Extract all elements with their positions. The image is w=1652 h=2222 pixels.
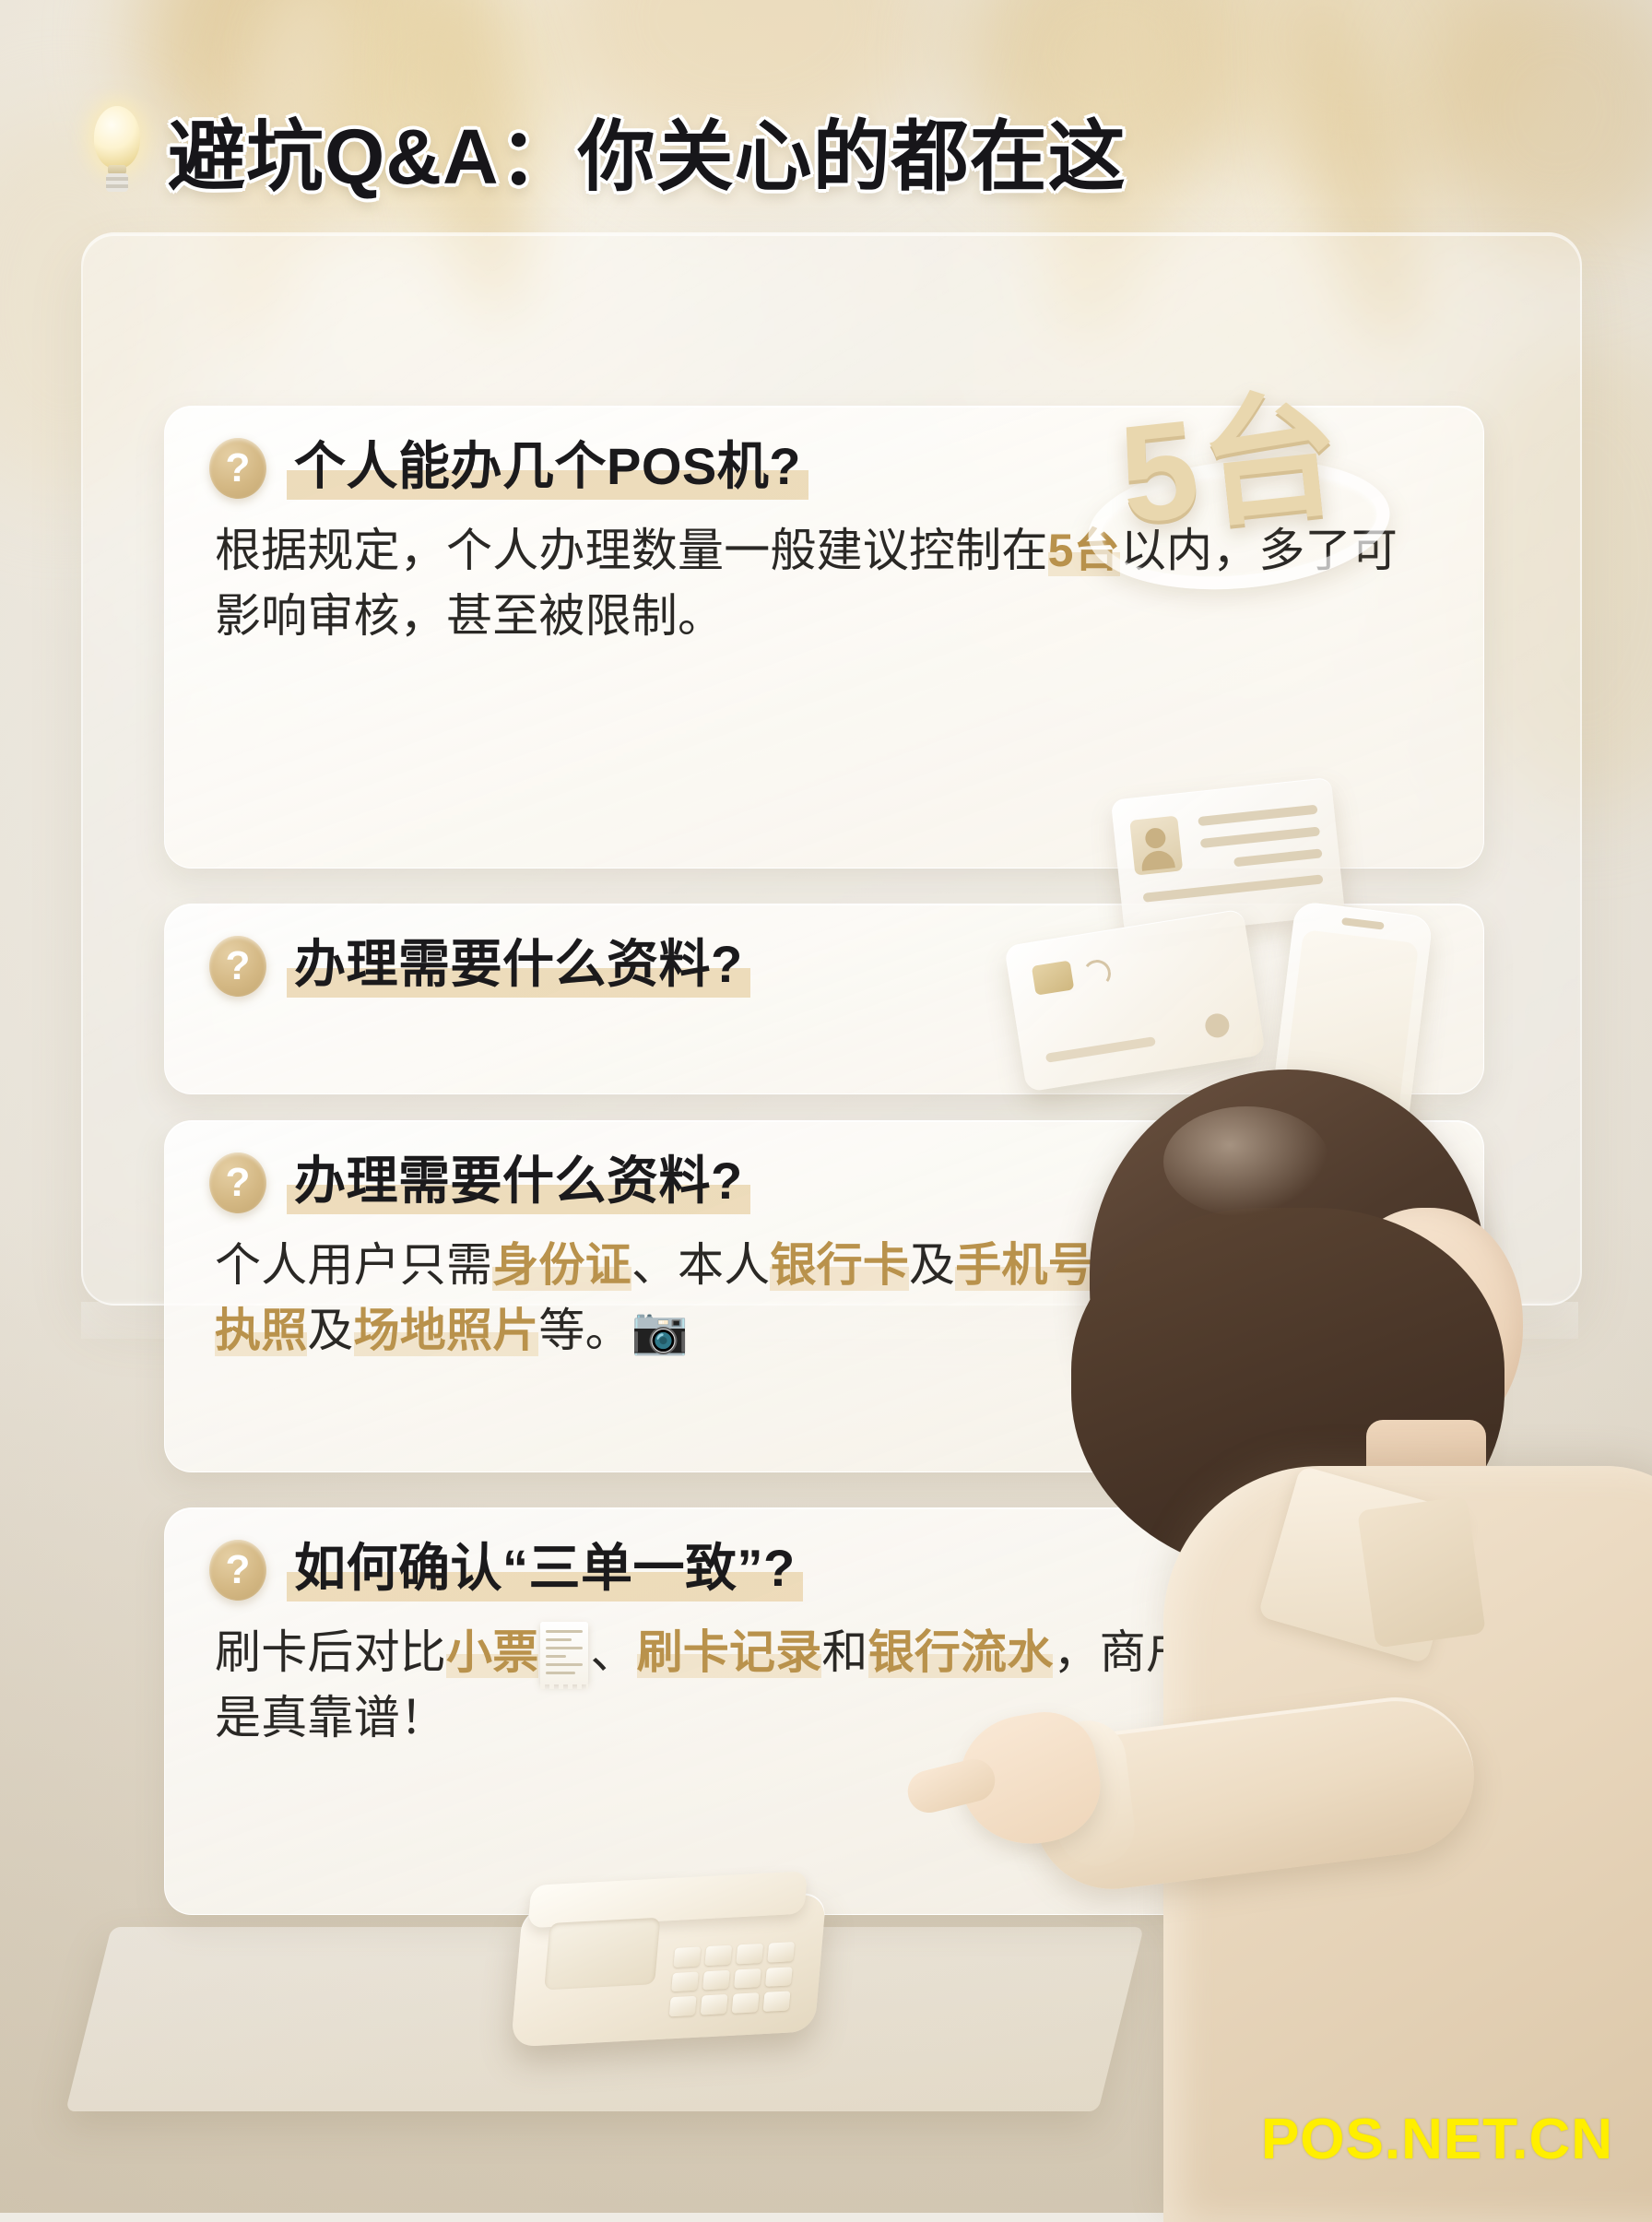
answer-segment: 和 [821,1626,867,1678]
answer-segment: 及 [307,1305,353,1356]
question-mark-icon: ? [209,1152,266,1213]
highlighted-term: 银行卡 [770,1239,909,1291]
watermark: POS.NET.CN [1261,2107,1613,2172]
pos-terminal-icon [512,1853,872,2074]
question-mark-icon: ? [209,1540,266,1601]
question-text: 办理需要什么资料? [287,1152,750,1214]
answer-segment: 等。 [538,1305,631,1356]
count-badge-label: 5台 [1109,341,1351,563]
page-title-row: 避坑Q&A：你关心的都在这 [88,100,1195,201]
answer-segment: 📷 [631,1305,689,1356]
question-mark-icon: ? [209,438,266,499]
answer-segment: 根据规定，个人办理数量一般建议控制在 [215,525,1048,576]
page-title: 避坑Q&A：你关心的都在这 [168,95,1127,207]
highlighted-term: 刷卡记录 [637,1626,822,1678]
collar-right [1357,1495,1486,1648]
question-mark-icon: ? [209,936,266,997]
answer-segment: 、本人 [631,1239,771,1291]
count-badge-decoration: 5台 [1079,369,1383,572]
hair-highlight [1163,1106,1329,1217]
question-text: 个人能办几个POS机? [287,438,808,500]
answer-segment: 刷卡后对比 [215,1626,446,1678]
highlighted-term: 小票 [446,1626,538,1678]
question-text: 如何确认“三单一致”? [287,1540,803,1601]
answer-segment: 、 [590,1626,636,1678]
bank-card-icon [1004,908,1266,1092]
highlighted-term: 场地照片 [354,1305,539,1356]
highlighted-term: 身份证 [492,1239,631,1291]
lightbulb-icon [88,104,146,196]
person-figure [933,1070,1652,2213]
question-text: 办理需要什么资料? [287,936,750,998]
receipt-icon [540,1622,588,1684]
answer-segment: 个人用户只需 [215,1239,492,1291]
